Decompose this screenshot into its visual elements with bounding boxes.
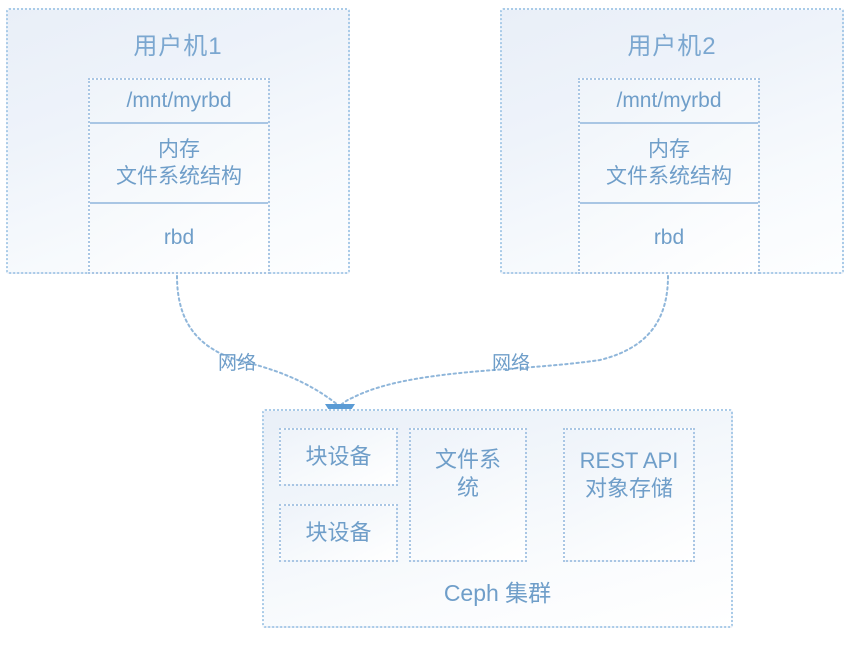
ceph-service-block-device-1: 块设备 — [279, 428, 398, 486]
ceph-architecture-diagram: 用户机1 /mnt/myrbd 内存 文件系统结构 rbd 用户机2 /mnt/… — [0, 0, 850, 649]
ceph-cluster-title: Ceph 集群 — [264, 574, 731, 608]
host-1-software-stack: /mnt/myrbd 内存 文件系统结构 rbd — [88, 78, 270, 274]
ceph-service-block-device-2: 块设备 — [279, 504, 398, 562]
host-1-rbd: rbd — [90, 204, 268, 272]
ceph-service-object-storage: REST API 对象存储 — [563, 428, 695, 562]
network-connector-right-path — [340, 276, 668, 406]
host-2-rbd: rbd — [580, 204, 758, 272]
host-2-software-stack: /mnt/myrbd 内存 文件系统结构 rbd — [578, 78, 760, 274]
network-label-left: 网络 — [218, 348, 256, 375]
host-1-mount-point: /mnt/myrbd — [90, 80, 268, 124]
network-label-right: 网络 — [492, 348, 530, 375]
network-connector-left-path — [177, 276, 339, 406]
host-2-memory-filesystem: 内存 文件系统结构 — [580, 124, 758, 204]
host-2-mount-point: /mnt/myrbd — [580, 80, 758, 124]
host-1-memory-filesystem: 内存 文件系统结构 — [90, 124, 268, 204]
host-2-title: 用户机2 — [502, 26, 842, 61]
host-1-title: 用户机1 — [8, 26, 348, 61]
ceph-service-file-system: 文件系 统 — [409, 428, 527, 562]
